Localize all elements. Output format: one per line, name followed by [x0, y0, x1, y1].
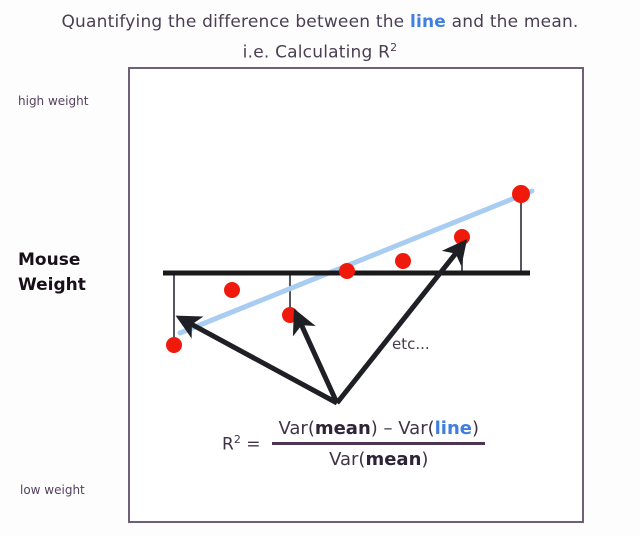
annotation-etc: etc...: [392, 335, 430, 353]
numerator-var1-suffix: ): [371, 418, 378, 439]
y-axis-title-line1: Mouse: [18, 248, 86, 273]
title-line-2: i.e. Calculating R2: [0, 35, 640, 66]
formula-r-superscript: 2: [234, 433, 241, 446]
formula-left-hand-side: R2 =: [222, 433, 260, 455]
numerator-var1-prefix: Var(: [278, 418, 314, 439]
formula-r: R: [222, 435, 234, 455]
numerator-var2-prefix: Var(: [398, 418, 434, 439]
r-squared-formula: R2 = Var(mean) – Var(line) Var(mean): [222, 418, 485, 470]
numerator-var1-word: mean: [315, 418, 371, 439]
figure-title: Quantifying the difference between the l…: [0, 10, 640, 66]
numerator-var2-word: line: [435, 418, 472, 439]
formula-equals: =: [246, 435, 260, 455]
formula-denominator: Var(mean): [323, 445, 434, 470]
denominator-prefix: Var(: [329, 449, 365, 470]
y-axis-title-line2: Weight: [18, 273, 86, 298]
title-superscript: 2: [390, 41, 397, 54]
title-text-part2: and the mean.: [446, 12, 579, 32]
title-line-1: Quantifying the difference between the l…: [0, 10, 640, 35]
formula-numerator: Var(mean) – Var(line): [272, 418, 485, 442]
title-text-part1: Quantifying the difference between the: [61, 12, 410, 32]
denominator-word: mean: [365, 449, 421, 470]
y-axis-title: Mouse Weight: [18, 248, 86, 298]
numerator-minus: –: [378, 418, 398, 439]
title-subtext: i.e. Calculating R: [243, 43, 390, 63]
axis-label-high-weight: high weight: [18, 94, 88, 108]
formula-fraction: Var(mean) – Var(line) Var(mean): [272, 418, 485, 470]
title-keyword-line: line: [410, 12, 446, 32]
figure-canvas: Quantifying the difference between the l…: [0, 0, 640, 536]
axis-label-low-weight: low weight: [20, 483, 85, 497]
numerator-var2-suffix: ): [472, 418, 479, 439]
denominator-suffix: ): [421, 449, 428, 470]
